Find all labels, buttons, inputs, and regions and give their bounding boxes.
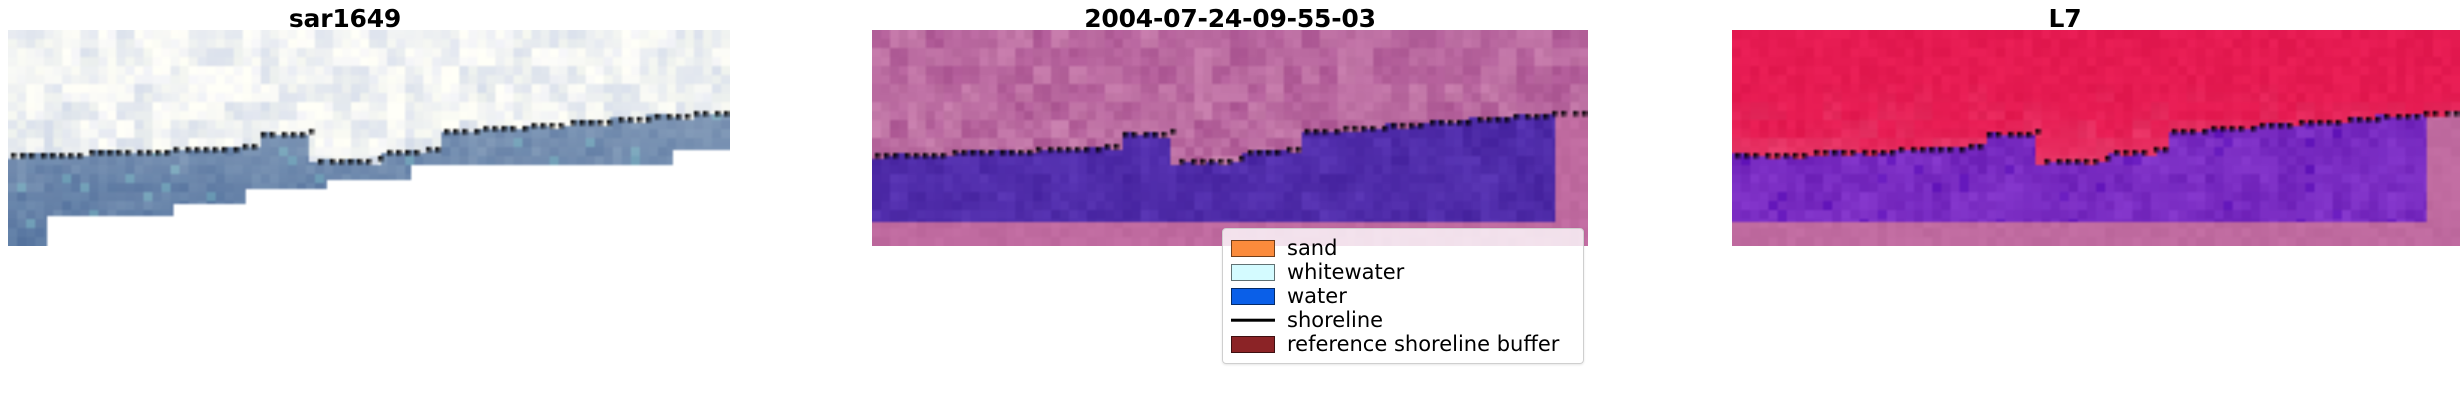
legend-item-reference-shoreline-buffer[interactable]: reference shoreline buffer <box>1231 332 1573 356</box>
legend-swatch-sand <box>1231 240 1275 257</box>
legend-swatch-whitewater <box>1231 264 1275 281</box>
panel-title-3: L7 <box>1670 6 2460 31</box>
legend-item-water[interactable]: water <box>1231 284 1573 308</box>
raster-image-1 <box>8 30 730 246</box>
raster-image-2 <box>872 30 1588 246</box>
panel-classification: 2004-07-24-09-55-03 sand whitewater wate… <box>790 0 1670 404</box>
legend-label-reference-shoreline-buffer: reference shoreline buffer <box>1287 334 1559 355</box>
legend-label-water: water <box>1287 286 1347 307</box>
legend-label-sand: sand <box>1287 238 1337 259</box>
legend-item-shoreline[interactable]: shoreline <box>1231 308 1573 332</box>
legend-swatch-water <box>1231 288 1275 305</box>
legend-label-shoreline: shoreline <box>1287 310 1383 331</box>
axes-1 <box>8 30 730 246</box>
panel-title-2: 2004-07-24-09-55-03 <box>790 6 1670 31</box>
panel-sar1649: sar1649 <box>0 0 790 404</box>
axes-3 <box>1732 30 2460 246</box>
panel-l7: L7 <box>1670 0 2460 404</box>
axes-2 <box>872 30 1588 246</box>
legend-item-sand[interactable]: sand <box>1231 236 1573 260</box>
raster-image-3 <box>1732 30 2460 246</box>
legend-swatch-reference-shoreline-buffer <box>1231 336 1275 353</box>
legend-swatch-shoreline <box>1231 312 1275 329</box>
legend-label-whitewater: whitewater <box>1287 262 1404 283</box>
legend-item-whitewater[interactable]: whitewater <box>1231 260 1573 284</box>
panel-title-1: sar1649 <box>0 6 740 31</box>
legend-box: sand whitewater water shoreline referenc… <box>1222 228 1584 364</box>
figure-canvas: sar1649 2004-07-24-09-55-03 sand whitewa… <box>0 0 2460 404</box>
